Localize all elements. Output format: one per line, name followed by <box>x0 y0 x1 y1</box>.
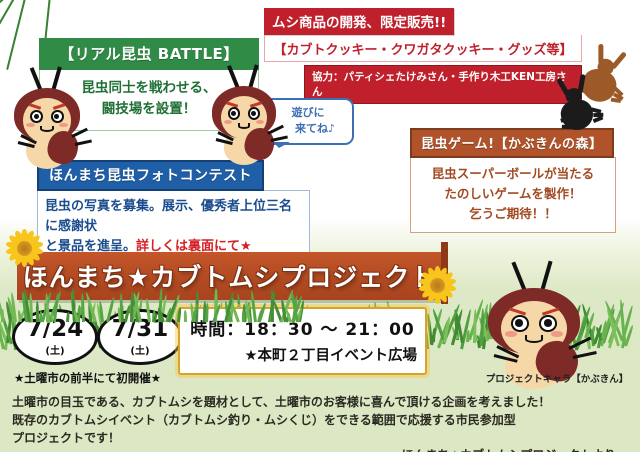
sunflower-icon-left <box>4 228 44 268</box>
photo-contest-header: ほんまち昆虫フォトコンテスト <box>37 160 264 191</box>
insect-game-line-2: たのしいゲームを製作！ <box>417 184 609 204</box>
insect-game-body: 昆虫スーパーボールが当たる たのしいゲームを製作！ 乞うご期待！！ <box>410 157 616 233</box>
speech-bubble-line-2: 来てね♪ <box>270 121 346 137</box>
mascot-kabukin-left <box>14 88 80 162</box>
date-1-weekday: (土) <box>45 342 64 357</box>
insect-game-line-1: 昆虫スーパーボールが当たる <box>417 164 609 184</box>
event-place: ★本町２丁目イベント広場 <box>188 344 417 365</box>
description-paragraph: 土曜市の目玉である、カブトムシを題材として、土曜市のお客様に喜んで頂ける企画を考… <box>12 393 628 452</box>
description-line-3: プロジェクトです！ <box>12 429 628 447</box>
date-note: ★土曜市の前半にて初開催★ <box>14 370 161 386</box>
insect-game-header: 昆虫ゲーム!【かぶきんの森】 <box>410 128 614 158</box>
goods-card: ムシ商品の開発、限定販売!! 【カブトクッキー・クワガタクッキー・グッズ等】 協… <box>264 8 582 104</box>
insect-game-card: 昆虫ゲーム!【かぶきんの森】 昆虫スーパーボールが当たる たのしいゲームを製作！… <box>410 128 616 233</box>
flyer-canvas: ムシ商品の開発、限定販売!! 【カブトクッキー・クワガタクッキー・グッズ等】 協… <box>0 0 640 452</box>
photo-contest-line-1: 昆虫の写真を募集。展示、優秀者上位三名に感謝状 <box>45 197 302 237</box>
date-2-weekday: (土) <box>130 342 149 357</box>
description-line-2: 既存のカブトムシイベント（カブトムシ釣り・ムシくじ）をできる範囲で応援する市民参… <box>12 411 628 429</box>
insect-game-line-3: 乞うご期待！！ <box>417 204 609 224</box>
description-line-1: 土曜市の目玉である、カブトムシを題材として、土曜市のお客様に喜んで頂ける企画を考… <box>12 393 628 411</box>
battle-header: 【リアル昆虫 BATTLE】 <box>39 38 259 70</box>
goods-ribbon-title: ムシ商品の開発、限定販売!! <box>264 8 454 35</box>
mascot-kabukin-middle <box>212 86 276 158</box>
goods-subtitle: 【カブトクッキー・クワガタクッキー・グッズ等】 <box>264 35 582 62</box>
mascot-caption: プロジェクトキャラ【かぶきん】 <box>478 371 636 385</box>
speech-bubble-line-1: 遊びに <box>270 105 346 121</box>
photo-contest-card: ほんまち昆虫フォトコンテスト 昆虫の写真を募集。展示、優秀者上位三名に感謝状 と… <box>37 160 310 265</box>
